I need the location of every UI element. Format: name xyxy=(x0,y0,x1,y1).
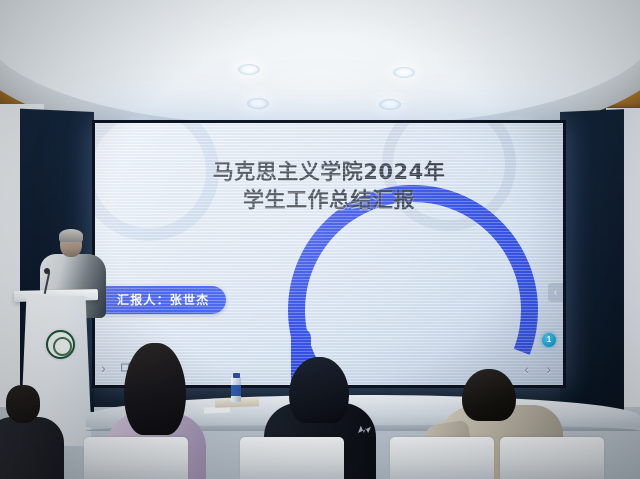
chair xyxy=(500,437,604,479)
downlight-icon xyxy=(238,64,260,75)
notification-badge[interactable]: 1 xyxy=(542,333,556,347)
attendee-far-left-head xyxy=(6,385,40,423)
downlight-icon xyxy=(393,67,415,78)
slide-title-line-2: 学生工作总结汇报 xyxy=(95,187,563,215)
water-bottle xyxy=(231,376,241,402)
slide-title-line-1: 马克思主义学院2024年 xyxy=(95,159,563,187)
presenter-hair xyxy=(59,229,83,242)
prev-slide-button-right[interactable]: ‹ xyxy=(524,362,529,376)
next-slide-button-left[interactable]: › xyxy=(101,361,106,375)
dark-wall-panel-right xyxy=(560,109,624,422)
university-emblem-icon xyxy=(46,330,75,359)
chair xyxy=(84,437,188,479)
microphone-icon xyxy=(44,268,50,274)
attendee-far-left-body xyxy=(0,417,64,479)
conference-room-screenshot: 马克思主义学院2024年 学生工作总结汇报 汇报人：张世杰 › ‹ › ‹ 1 xyxy=(0,0,640,479)
chair xyxy=(390,437,494,479)
attendee-right-head xyxy=(462,369,516,421)
attendee-center-head xyxy=(289,357,349,423)
downlight-icon xyxy=(379,99,401,110)
water-bottle-cap xyxy=(233,373,240,378)
chevron-left-icon[interactable]: ‹ xyxy=(548,283,563,302)
attendee-left-head xyxy=(124,343,186,435)
presenter-badge: 汇报人：张世杰 xyxy=(95,286,226,314)
chair xyxy=(240,437,344,479)
downlight-icon xyxy=(247,98,269,109)
slide-title: 马克思主义学院2024年 学生工作总结汇报 xyxy=(95,159,563,214)
next-slide-button-right[interactable]: › xyxy=(546,362,551,376)
